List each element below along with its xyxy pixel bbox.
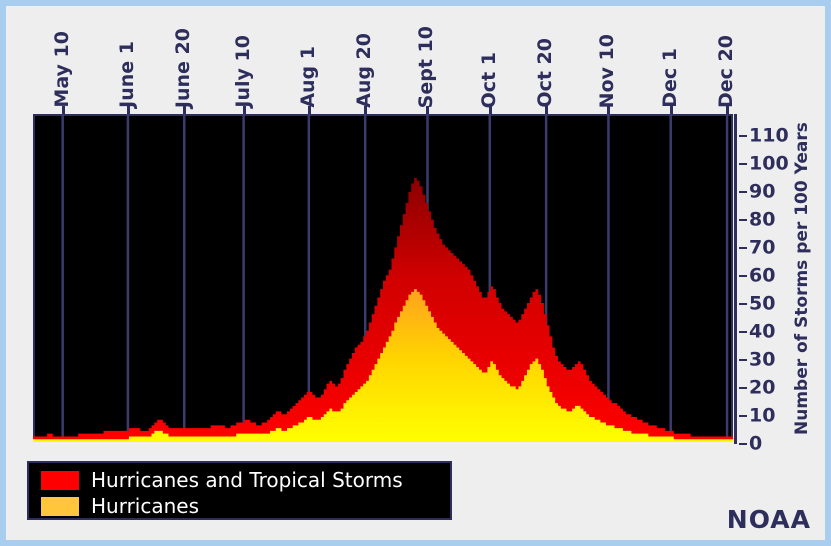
y-axis-tick-label-2: 20 bbox=[749, 379, 775, 398]
y-axis-tick-label-9: 90 bbox=[749, 183, 775, 202]
legend-swatch-hurricanes bbox=[41, 497, 79, 516]
chart-figure: May 10June 1June 20July 10Aug 1Aug 20Sep… bbox=[6, 6, 825, 540]
y-axis-tick-5 bbox=[739, 303, 747, 305]
y-axis-tick-1 bbox=[739, 415, 747, 417]
x-axis-tick-label-2: June 20 bbox=[174, 28, 193, 108]
legend-item-storms: Hurricanes and Tropical Storms bbox=[41, 467, 450, 493]
plot-area bbox=[33, 114, 733, 442]
y-axis-tick-label-6: 60 bbox=[749, 267, 775, 286]
y-axis-tick-label-0: 0 bbox=[749, 435, 762, 454]
x-axis-tick-label-11: Dec 20 bbox=[717, 35, 736, 108]
x-axis-tick-0 bbox=[62, 106, 65, 114]
x-axis-tick-label-10: Dec 1 bbox=[661, 48, 680, 108]
y-axis-tick-label-5: 50 bbox=[749, 295, 775, 314]
climatology-area-chart bbox=[33, 114, 733, 442]
x-axis-tick-11 bbox=[726, 106, 729, 114]
x-axis-tick-5 bbox=[364, 106, 367, 114]
y-axis-tick-2 bbox=[739, 387, 747, 389]
x-axis-tick-6 bbox=[426, 106, 429, 114]
y-axis-line bbox=[734, 114, 737, 444]
y-axis-tick-11 bbox=[739, 135, 747, 137]
y-axis-tick-6 bbox=[739, 275, 747, 277]
noaa-attribution: NOAA bbox=[727, 505, 811, 534]
y-axis-tick-label-10: 100 bbox=[749, 155, 789, 174]
y-axis-title: Number of Storms per 100 Years bbox=[792, 114, 812, 444]
chart-legend: Hurricanes and Tropical Storms Hurricane… bbox=[27, 461, 452, 520]
x-axis-tick-label-4: Aug 1 bbox=[299, 46, 318, 108]
y-axis-tick-label-11: 110 bbox=[749, 127, 789, 146]
y-axis-tick-label-4: 40 bbox=[749, 323, 775, 342]
x-axis-tick-3 bbox=[243, 106, 246, 114]
x-axis-tick-2 bbox=[183, 106, 186, 114]
y-axis-tick-4 bbox=[739, 331, 747, 333]
legend-label-hurricanes: Hurricanes bbox=[91, 496, 199, 516]
y-axis-tick-10 bbox=[739, 163, 747, 165]
x-axis-tick-label-9: Nov 10 bbox=[598, 34, 617, 108]
x-axis-tick-label-0: May 10 bbox=[53, 31, 72, 108]
x-axis-tick-label-6: Sept 10 bbox=[417, 26, 436, 108]
y-axis-tick-8 bbox=[739, 219, 747, 221]
y-axis-labels: 0102030405060708090100110 bbox=[739, 114, 785, 444]
x-axis-labels: May 10June 1June 20July 10Aug 1Aug 20Sep… bbox=[33, 14, 733, 108]
legend-item-hurricanes: Hurricanes bbox=[41, 493, 450, 519]
y-axis-tick-label-1: 10 bbox=[749, 407, 775, 426]
x-axis-tick-7 bbox=[489, 106, 492, 114]
y-axis-tick-3 bbox=[739, 359, 747, 361]
x-axis-tick-label-5: Aug 20 bbox=[355, 33, 374, 108]
x-axis-tick-10 bbox=[670, 106, 673, 114]
y-axis-tick-7 bbox=[739, 247, 747, 249]
x-axis-tick-9 bbox=[607, 106, 610, 114]
y-axis-tick-9 bbox=[739, 191, 747, 193]
y-axis-tick-label-7: 70 bbox=[749, 239, 775, 258]
legend-label-storms: Hurricanes and Tropical Storms bbox=[91, 470, 403, 490]
x-axis-tick-label-8: Oct 20 bbox=[536, 38, 555, 108]
y-axis-tick-label-3: 30 bbox=[749, 351, 775, 370]
x-axis-tick-label-3: July 10 bbox=[234, 35, 253, 108]
x-axis-tick-1 bbox=[127, 106, 130, 114]
y-axis-tick-label-8: 80 bbox=[749, 211, 775, 230]
legend-swatch-storms bbox=[41, 471, 79, 490]
x-axis-tick-label-1: June 1 bbox=[118, 41, 137, 108]
x-axis-tick-4 bbox=[308, 106, 311, 114]
x-axis-tick-8 bbox=[545, 106, 548, 114]
y-axis-tick-0 bbox=[739, 443, 747, 445]
x-axis-tick-label-7: Oct 1 bbox=[480, 52, 499, 108]
